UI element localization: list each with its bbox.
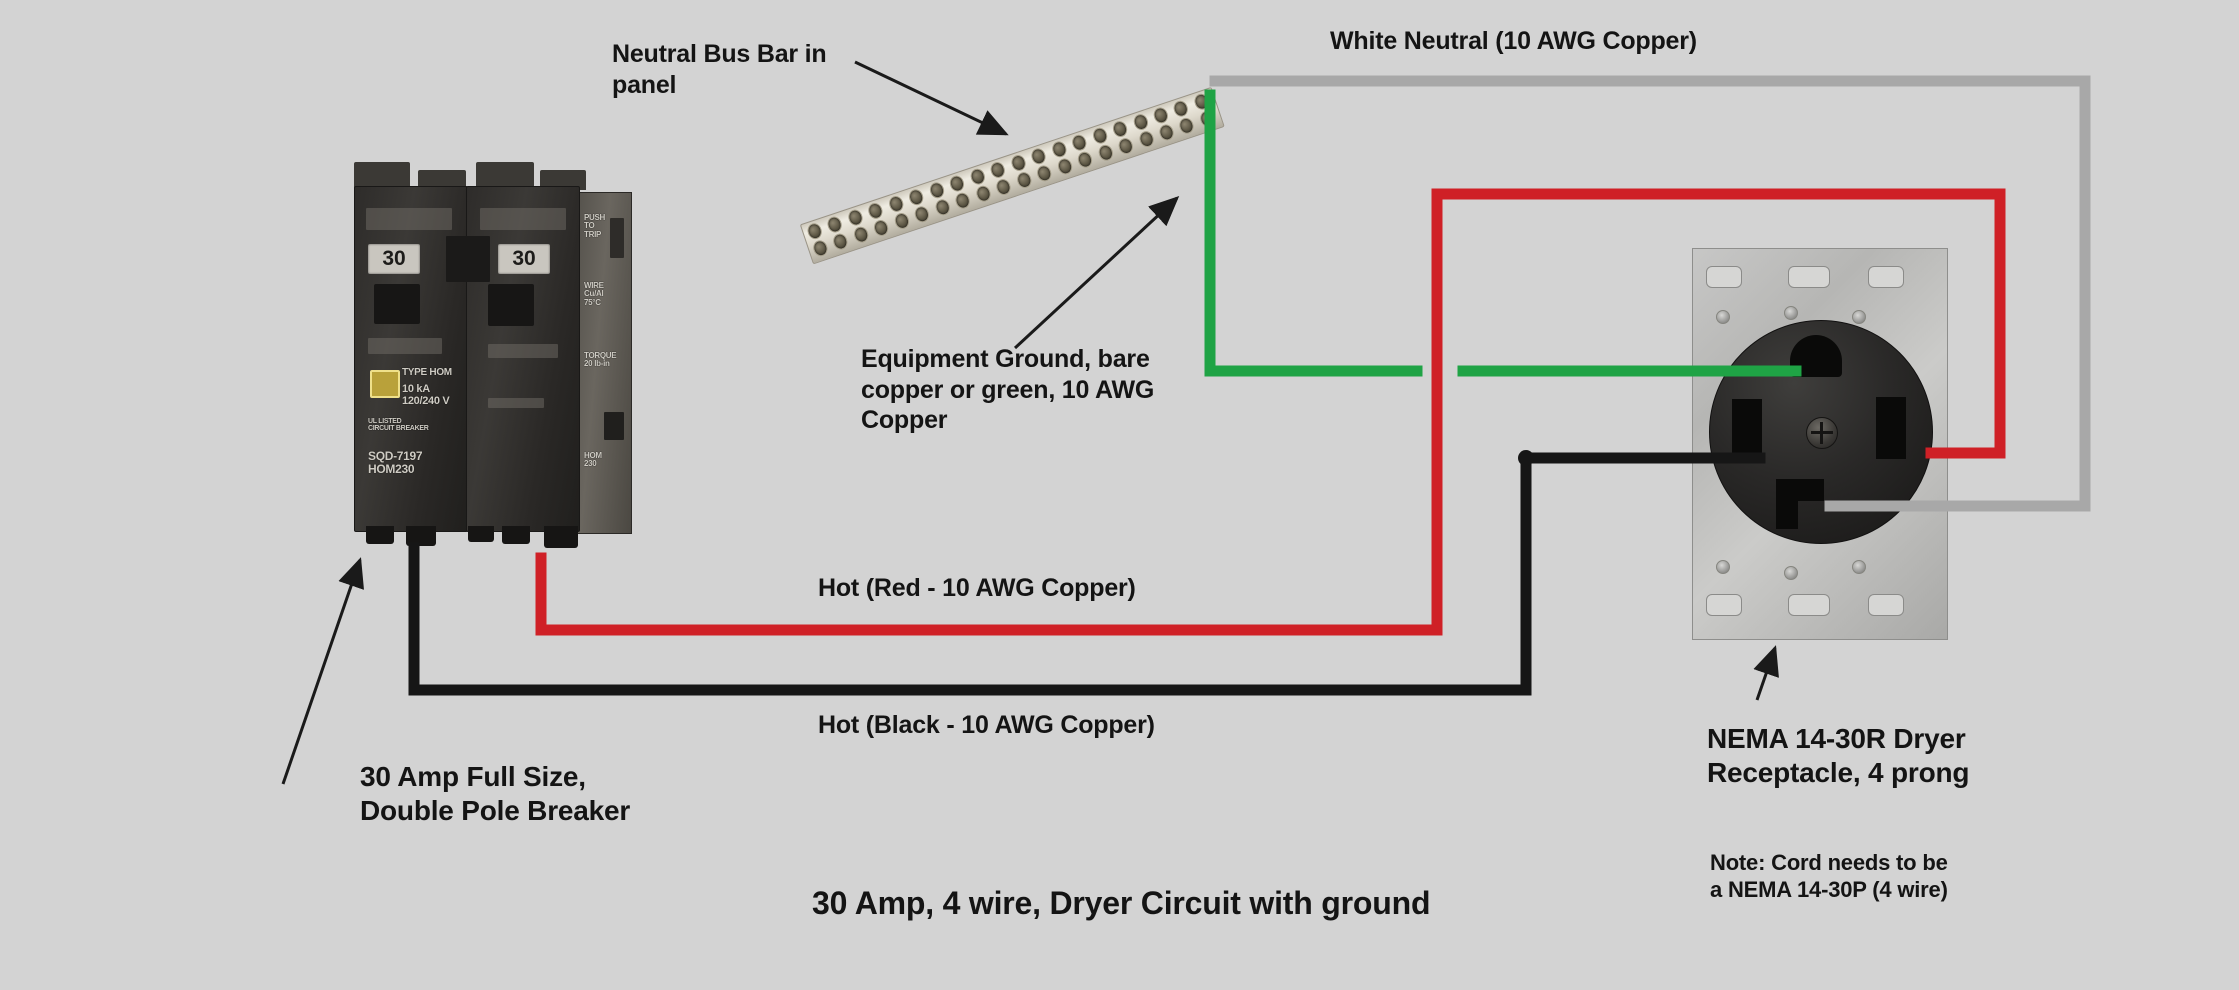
arrow-equipment-ground bbox=[1015, 198, 1177, 348]
annotation-arrow-layer bbox=[0, 0, 2239, 990]
arrow-receptacle bbox=[1757, 648, 1775, 700]
wiring-diagram-canvas: PUSH TO TRIP WIRE Cu/Al 75°C TORQUE 20 l… bbox=[0, 0, 2239, 990]
arrow-neutral-bus-bar bbox=[855, 62, 1006, 134]
arrow-breaker bbox=[283, 560, 360, 784]
